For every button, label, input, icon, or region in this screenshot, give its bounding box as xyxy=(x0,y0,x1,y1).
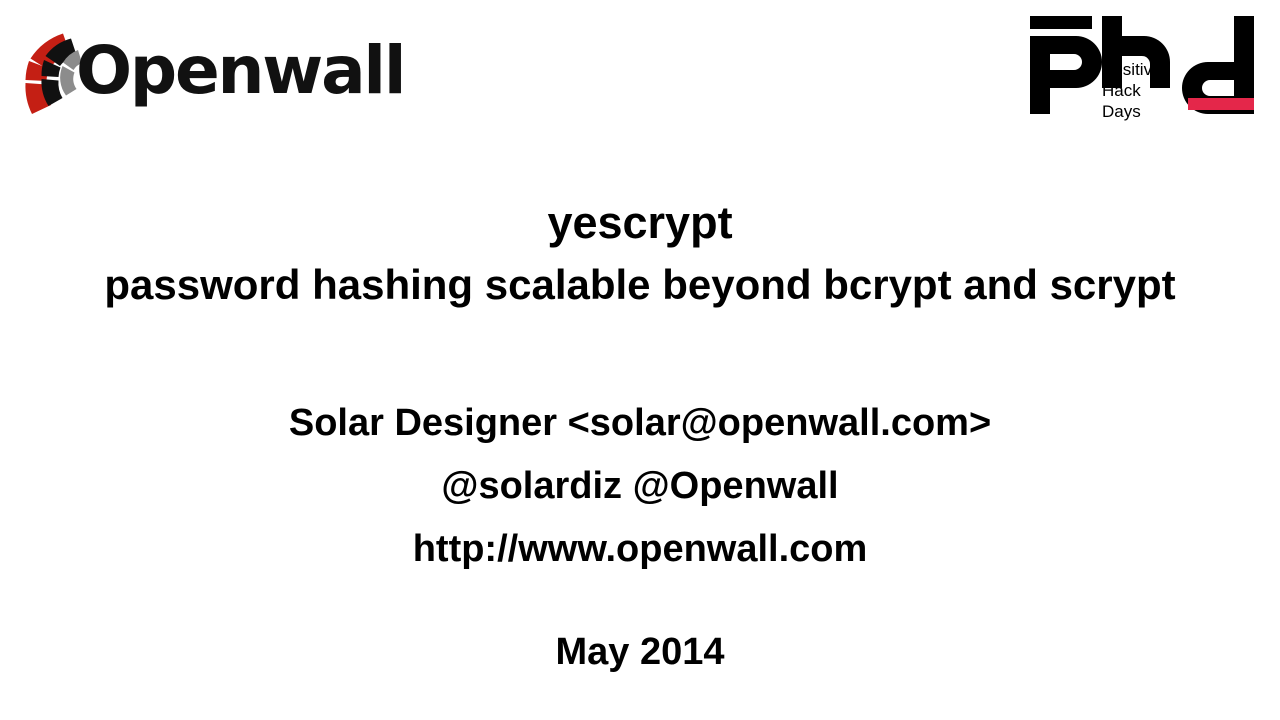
date-line: May 2014 xyxy=(0,629,1280,675)
openwall-wordmark: Openwall xyxy=(76,38,404,104)
website-line: http://www.openwall.com xyxy=(0,518,1280,581)
phd-red-bar xyxy=(1188,98,1254,110)
social-handles-line: @solardiz @Openwall xyxy=(0,455,1280,518)
phd-letter-p xyxy=(1030,36,1102,114)
phd-macron-bar xyxy=(1030,16,1092,29)
openwall-logo: Openwall xyxy=(18,12,358,157)
slide-subtitle: password hashing scalable beyond bcrypt … xyxy=(0,254,1280,316)
phd-logo-mark: Positive Hack Days xyxy=(1026,14,1258,132)
phd-tagline-line2: Hack xyxy=(1102,81,1141,100)
title-block: yescrypt password hashing scalable beyon… xyxy=(0,192,1280,316)
slide-title: yescrypt xyxy=(0,192,1280,254)
phd-tagline-line3: Days xyxy=(1102,102,1141,121)
phd-tagline-line1: Positive xyxy=(1102,60,1162,79)
author-line: Solar Designer <solar@openwall.com> xyxy=(0,392,1280,455)
phd-logo: Positive Hack Days xyxy=(1026,14,1258,132)
title-slide: Openwall Positive Hack Days xyxy=(0,0,1280,720)
contact-block: Solar Designer <solar@openwall.com> @sol… xyxy=(0,392,1280,581)
date-block: May 2014 xyxy=(0,629,1280,675)
